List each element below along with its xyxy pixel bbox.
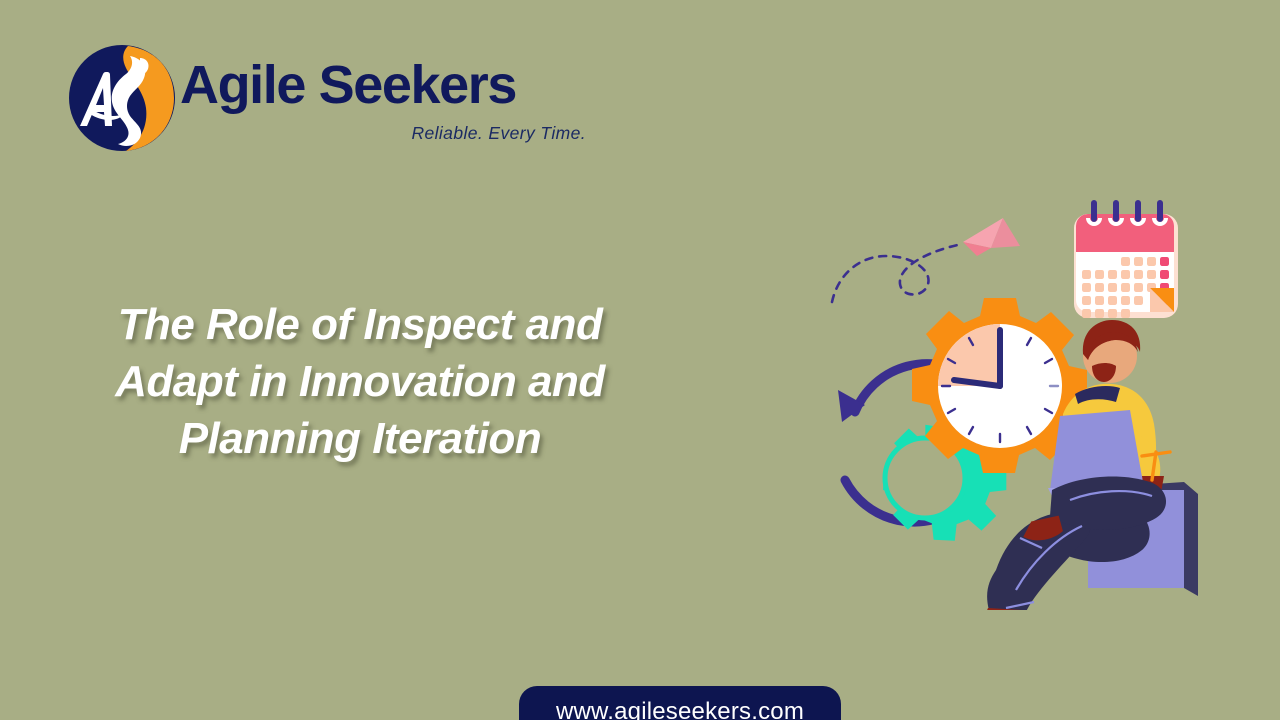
- page-title-line-3: Planning Iteration: [60, 410, 660, 467]
- website-url-badge[interactable]: www.agileseekers.com: [519, 686, 841, 720]
- calendar-icon: [1074, 200, 1178, 318]
- brand-wordmark: Agile Seekers: [180, 58, 516, 112]
- page-title-line-2: Adapt in Innovation and: [60, 353, 660, 410]
- paper-plane-icon: [963, 218, 1020, 256]
- dashed-flight-path: [832, 244, 962, 302]
- brand-tagline: Reliable. Every Time.: [358, 123, 586, 144]
- agile-seekers-circular-monogram-icon: [68, 44, 176, 152]
- slide-canvas: Agile Seekers Reliable. Every Time. The …: [0, 0, 1280, 720]
- page-title-line-1: The Role of Inspect and: [60, 296, 660, 353]
- time-management-iteration-illustration: [820, 190, 1220, 610]
- page-title: The Role of Inspect and Adapt in Innovat…: [60, 296, 660, 467]
- brand-logo[interactable]: Agile Seekers Reliable. Every Time.: [68, 44, 528, 160]
